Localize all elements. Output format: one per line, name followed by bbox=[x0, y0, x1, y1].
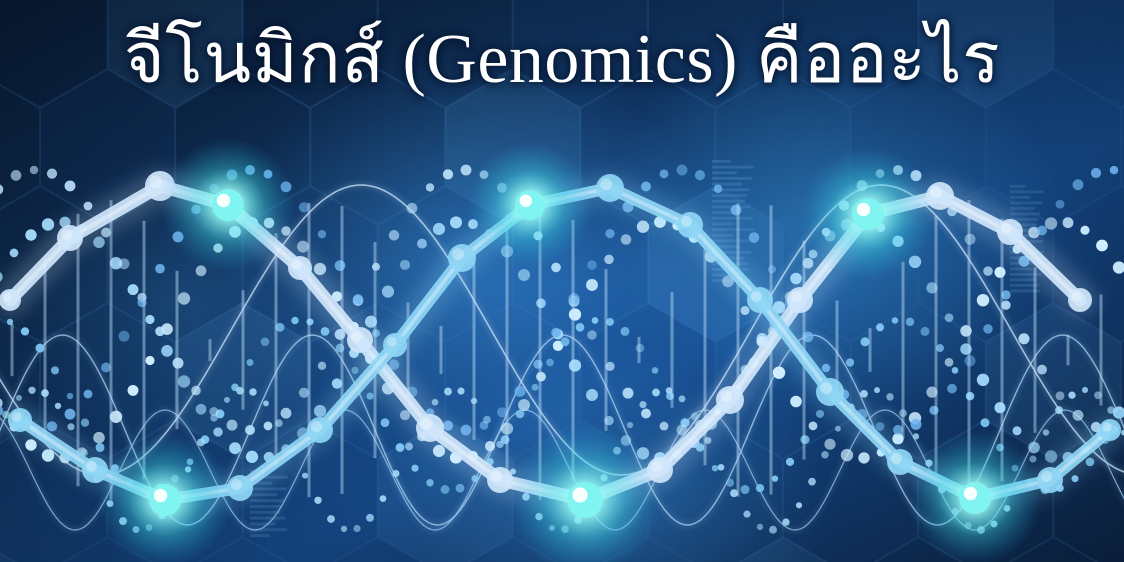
node-highlight bbox=[600, 178, 612, 190]
node-highlight bbox=[231, 479, 242, 490]
node-highlight bbox=[1041, 471, 1052, 482]
node-highlight bbox=[351, 331, 362, 342]
node-highlight bbox=[61, 229, 72, 240]
node-highlight bbox=[791, 291, 802, 302]
node-highlight bbox=[1001, 223, 1012, 234]
node-highlight bbox=[292, 260, 302, 270]
node-highlight bbox=[86, 461, 97, 472]
node-highlight bbox=[491, 471, 502, 482]
node-highlight bbox=[387, 337, 397, 347]
node-highlight bbox=[857, 203, 870, 216]
node-highlight bbox=[891, 453, 902, 464]
node-highlight bbox=[820, 382, 832, 394]
helix-layer bbox=[0, 0, 1124, 562]
node-highlight bbox=[1072, 292, 1082, 302]
node-highlight bbox=[12, 412, 22, 422]
node-highlight bbox=[964, 487, 977, 500]
node-highlight bbox=[1102, 422, 1111, 431]
node-highlight bbox=[751, 291, 762, 302]
node-highlight bbox=[520, 195, 533, 208]
node-highlight bbox=[420, 418, 432, 430]
helix-node bbox=[0, 289, 21, 311]
node-highlight bbox=[651, 461, 662, 472]
node-highlight bbox=[572, 487, 587, 502]
genomics-hero-banner: จีโนมิกส์ (Genomics) คืออะไร bbox=[0, 0, 1124, 562]
helix-nodes bbox=[0, 138, 1121, 562]
node-highlight bbox=[2, 292, 11, 301]
node-highlight bbox=[150, 176, 163, 189]
node-highlight bbox=[154, 489, 167, 502]
node-highlight bbox=[311, 421, 322, 432]
node-highlight bbox=[930, 186, 942, 198]
node-highlight bbox=[452, 248, 464, 260]
node-highlight bbox=[720, 390, 732, 402]
node-highlight bbox=[217, 194, 230, 207]
node-highlight bbox=[681, 216, 692, 227]
